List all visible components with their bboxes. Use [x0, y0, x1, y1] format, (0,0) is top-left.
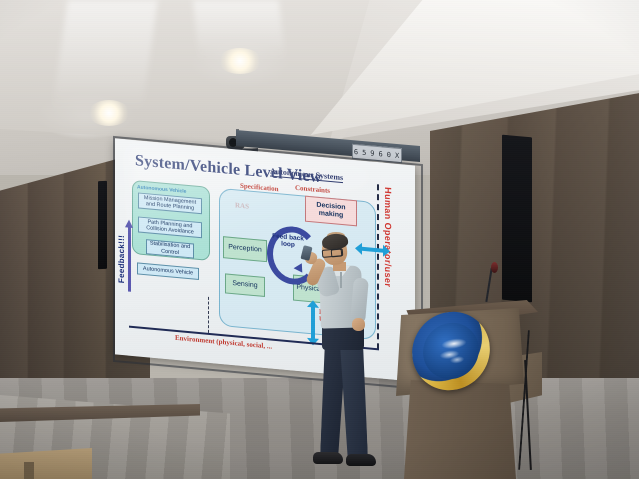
osd-digit: 0 — [386, 150, 392, 159]
podium-base — [404, 380, 516, 479]
projection-screen-frame — [113, 136, 423, 390]
presenter-shirt-placket — [340, 272, 342, 288]
wall-speaker-slot-right — [502, 135, 532, 303]
glasses-lens-icon — [331, 249, 343, 258]
osd-digit: 6 — [378, 150, 384, 159]
presenter-shoe-back — [313, 452, 343, 464]
wall-speaker-slot-left — [98, 181, 107, 269]
osd-digit: 5 — [362, 148, 368, 157]
downlight-icon — [218, 48, 262, 74]
light-beam — [52, 0, 157, 110]
lecture-hall-photo: 6 5 9 6 0 X System/Vehicle Level View Au… — [0, 0, 639, 479]
desk-leg — [24, 462, 34, 479]
osd-digit: X — [394, 151, 400, 160]
osd-digit: 6 — [353, 147, 359, 156]
emblem-wave-icon — [429, 331, 473, 370]
presenter-shoe-front — [346, 454, 376, 466]
osd-digit: 9 — [370, 149, 376, 158]
presenter-hand-right — [352, 318, 365, 331]
downlight-icon — [88, 100, 130, 126]
microphone-icon — [491, 262, 498, 273]
